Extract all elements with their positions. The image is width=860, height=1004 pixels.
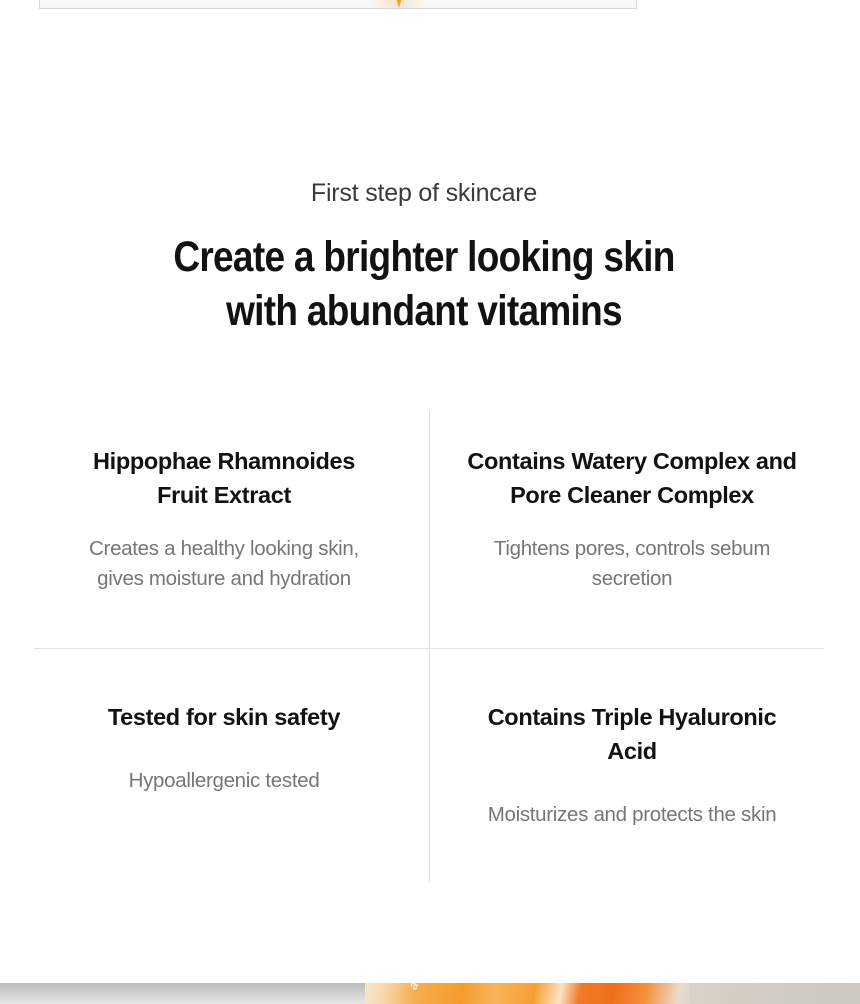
feature-title-line-2: Pore Cleaner Complex xyxy=(510,482,754,508)
feature-description: Tightens pores, controls sebum secretion xyxy=(432,534,832,595)
grid-divider-horizontal xyxy=(34,648,824,649)
feature-title: Contains Triple Hyaluronic Acid xyxy=(432,700,832,768)
feature-desc-line-1: Creates a healthy looking skin, xyxy=(89,537,359,560)
strip-grey-block xyxy=(0,983,365,1004)
feature-cell-top-left: Hippophae Rhamnoides Fruit Extract Creat… xyxy=(24,444,424,595)
page-title: Create a brighter looking skin with abun… xyxy=(59,231,788,338)
orange-triangle-pointer-icon xyxy=(392,0,406,8)
feature-cell-top-right: Contains Watery Complex and Pore Cleaner… xyxy=(432,444,832,595)
feature-desc-line-1: Hypoallergenic tested xyxy=(129,769,320,792)
headline-line-2: with abundant vitamins xyxy=(59,285,788,338)
feature-grid: Hippophae Rhamnoides Fruit Extract Creat… xyxy=(0,410,860,882)
feature-desc-line-1: Tightens pores, controls sebum xyxy=(494,537,770,560)
feature-desc-line-2: gives moisture and hydration xyxy=(97,567,351,590)
feature-title: Contains Watery Complex and Pore Cleaner… xyxy=(432,444,832,512)
feature-title: Tested for skin safety xyxy=(24,700,424,734)
feature-description: Moisturizes and protects the skin xyxy=(432,800,832,830)
feature-description: Creates a healthy looking skin, gives mo… xyxy=(24,534,424,595)
grid-divider-vertical xyxy=(429,410,430,882)
feature-desc-line-2: secretion xyxy=(592,567,672,590)
bottom-photo-strip: am xyxy=(0,983,860,1004)
feature-title: Hippophae Rhamnoides Fruit Extract xyxy=(24,444,424,512)
headline-line-1: Create a brighter looking skin xyxy=(59,231,788,284)
feature-cell-bottom-right: Contains Triple Hyaluronic Acid Moisturi… xyxy=(432,700,832,830)
cropped-banner-remnant xyxy=(39,0,637,9)
feature-title-line-2: Acid xyxy=(607,738,657,764)
feature-title-line-1: Contains Watery Complex and xyxy=(467,448,796,474)
product-label-text: am xyxy=(405,983,428,992)
eyebrow-text: First step of skincare xyxy=(0,178,848,209)
feature-description: Hypoallergenic tested xyxy=(24,766,424,796)
feature-title-line-1: Contains Triple Hyaluronic xyxy=(488,704,777,730)
feature-title-line-2: Fruit Extract xyxy=(157,482,291,508)
feature-desc-line-1: Moisturizes and protects the skin xyxy=(488,803,777,826)
intro-section: First step of skincare Create a brighter… xyxy=(0,178,848,338)
strip-beige-block xyxy=(690,983,860,1004)
feature-title-line-1: Hippophae Rhamnoides xyxy=(93,448,355,474)
feature-cell-bottom-left: Tested for skin safety Hypoallergenic te… xyxy=(24,700,424,796)
product-tube-photo: am xyxy=(365,983,690,1004)
feature-title-line-1: Tested for skin safety xyxy=(108,704,340,730)
